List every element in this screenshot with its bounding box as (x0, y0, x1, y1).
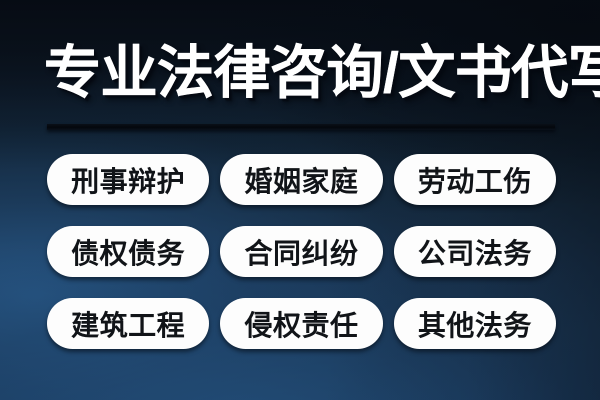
service-pill-other-legal[interactable]: 其他法务 (394, 298, 556, 349)
legal-services-poster: 专业法律咨询/文书代写 刑事辩护 婚姻家庭 劳动工伤 债权债务 合同纠纷 公司法… (0, 0, 600, 400)
service-pill-tort-liability[interactable]: 侵权责任 (220, 298, 382, 349)
service-pill-corporate-legal[interactable]: 公司法务 (394, 226, 556, 277)
service-pill-contract-disputes[interactable]: 合同纠纷 (220, 226, 382, 277)
service-pill-construction[interactable]: 建筑工程 (47, 298, 209, 349)
service-pill-criminal-defense[interactable]: 刑事辩护 (47, 154, 209, 205)
headline-divider (47, 124, 555, 130)
service-pill-row: 债权债务 合同纠纷 公司法务 (47, 226, 556, 277)
service-pill-labor-injury[interactable]: 劳动工伤 (394, 154, 556, 205)
service-pill-row: 刑事辩护 婚姻家庭 劳动工伤 (47, 154, 556, 205)
service-pill-debt-claims[interactable]: 债权债务 (47, 226, 209, 277)
service-pill-row: 建筑工程 侵权责任 其他法务 (47, 298, 556, 349)
poster-headline: 专业法律咨询/文书代写 (44, 32, 560, 114)
service-pill-grid: 刑事辩护 婚姻家庭 劳动工伤 债权债务 合同纠纷 公司法务 建筑工程 侵权责任 … (47, 154, 556, 349)
service-pill-marriage-family[interactable]: 婚姻家庭 (220, 154, 382, 205)
